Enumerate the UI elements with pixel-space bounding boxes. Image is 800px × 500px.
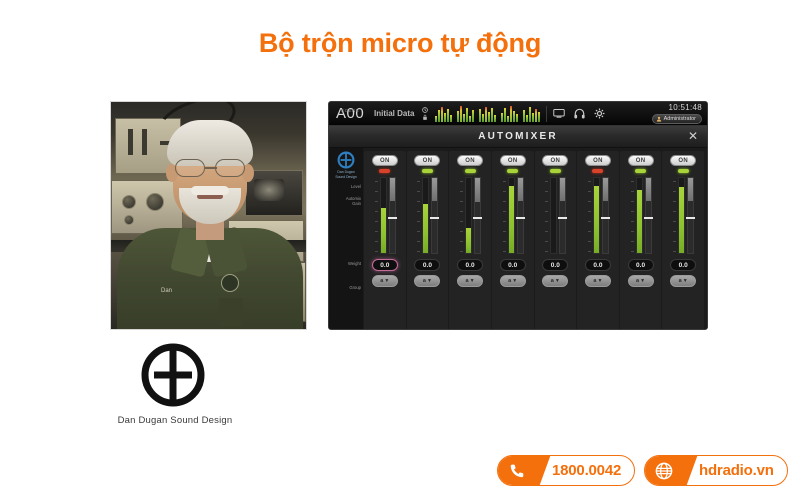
channel-led-indicator — [507, 169, 518, 173]
gear-icon[interactable] — [594, 108, 605, 119]
dugan-mark-icon — [337, 151, 355, 169]
gain-marker — [686, 217, 695, 219]
channel-led-indicator — [465, 169, 476, 173]
photo-shirt-badge — [221, 274, 239, 292]
group-label: a — [551, 278, 554, 284]
channel-on-button[interactable]: ON — [628, 155, 654, 166]
page-root: Bộ trộn micro tự động — [0, 0, 800, 500]
gain-marker — [601, 217, 610, 219]
chevron-down-icon: ▼ — [597, 278, 602, 284]
meter-scale — [502, 177, 506, 254]
label-group: Group — [349, 285, 361, 290]
level-meter — [465, 177, 472, 254]
group-label: a — [380, 278, 383, 284]
gain-marker — [558, 217, 567, 219]
lock-icon — [422, 114, 428, 121]
meter-scale — [544, 177, 548, 254]
weight-value[interactable]: 0.0 — [585, 259, 611, 271]
level-meter — [636, 177, 643, 254]
chevron-down-icon: ▼ — [512, 278, 517, 284]
channel-meters — [625, 177, 657, 254]
gain-marker — [516, 217, 525, 219]
channel-meters — [411, 177, 443, 254]
automixer-titlebar: AUTOMIXER ✕ — [329, 126, 707, 148]
header-right: 10:51:48 Administrator — [652, 104, 702, 124]
phone-icon — [498, 456, 536, 485]
channel-strip: ON0.0a▼ — [535, 151, 577, 330]
group-select-button[interactable]: a▼ — [414, 275, 440, 287]
channel-meters — [497, 177, 529, 254]
close-icon[interactable]: ✕ — [686, 129, 700, 143]
channel-on-button[interactable]: ON — [670, 155, 696, 166]
dugan-mark-caption: Dan Dugan Sound Design — [330, 170, 362, 179]
group-select-button[interactable]: a▼ — [372, 275, 398, 287]
weight-value[interactable]: 0.0 — [372, 259, 398, 271]
channel-meters — [582, 177, 614, 254]
meter-scale — [459, 177, 463, 254]
console-header: SCENE A00 Initial Data — [329, 102, 707, 126]
group-label: a — [679, 278, 682, 284]
level-meter — [550, 177, 557, 254]
globe-icon — [645, 456, 683, 485]
headphones-icon[interactable] — [574, 108, 585, 119]
channel-led-indicator — [678, 169, 689, 173]
channel-strip: ON0.0a▼ — [449, 151, 491, 330]
gain-marker — [644, 217, 653, 219]
level-meter — [678, 177, 685, 254]
automix-gain-meter — [687, 177, 694, 254]
page-title: Bộ trộn micro tự động — [0, 28, 800, 59]
level-meter — [380, 177, 387, 254]
automix-gain-meter — [389, 177, 396, 254]
channel-meters — [667, 177, 699, 254]
photo-shirt-pocket — [219, 298, 243, 326]
chevron-down-icon: ▼ — [470, 278, 475, 284]
chevron-down-icon: ▼ — [427, 278, 432, 284]
weight-value[interactable]: 0.0 — [500, 259, 526, 271]
gain-marker — [430, 217, 439, 219]
channel-on-button[interactable]: ON — [500, 155, 526, 166]
chevron-down-icon: ▼ — [640, 278, 645, 284]
channel-meters — [539, 177, 571, 254]
scene-lock-icons — [422, 107, 428, 121]
weight-value[interactable]: 0.0 — [542, 259, 568, 271]
chevron-down-icon: ▼ — [683, 278, 688, 284]
meter-scale — [630, 177, 634, 254]
channel-strip: ON0.0a▼ — [364, 151, 406, 330]
group-label: a — [423, 278, 426, 284]
automixer-title: AUTOMIXER — [478, 131, 558, 142]
channel-strip: ON0.0a▼ — [577, 151, 619, 330]
meter-bridge — [435, 105, 540, 122]
channel-on-button[interactable]: ON — [414, 155, 440, 166]
group-select-button[interactable]: a▼ — [585, 275, 611, 287]
weight-value[interactable]: 0.0 — [414, 259, 440, 271]
level-meter — [593, 177, 600, 254]
photo-moustache — [191, 186, 229, 195]
channel-strips: ON0.0a▼ON0.0a▼ON0.0a▼ON0.0a▼ON0.0a▼ON0.0… — [363, 148, 707, 330]
phone-badge[interactable]: 1800.0042 — [497, 455, 635, 486]
channel-meters — [454, 177, 486, 254]
channel-meters — [369, 177, 401, 254]
phone-number: 1800.0042 — [536, 462, 634, 479]
automixer-body: Dan Dugan Sound Design Level Automix Gai… — [329, 148, 707, 330]
label-level: Level — [351, 184, 361, 189]
channel-led-indicator — [379, 169, 390, 173]
group-label: a — [636, 278, 639, 284]
group-label: a — [466, 278, 469, 284]
weight-value[interactable]: 0.0 — [670, 259, 696, 271]
meter-scale — [587, 177, 591, 254]
level-meter — [422, 177, 429, 254]
weight-value[interactable]: 0.0 — [457, 259, 483, 271]
user-icon — [656, 116, 662, 122]
website-url: hdradio.vn — [683, 462, 787, 479]
photo-oscilloscope — [245, 170, 303, 216]
group-select-button[interactable]: a▼ — [457, 275, 483, 287]
photo-name-tag: Dan — [161, 288, 172, 294]
monitor-icon[interactable] — [553, 109, 565, 118]
channel-strip: ON0.0a▼ — [492, 151, 534, 330]
chevron-down-icon: ▼ — [384, 278, 389, 284]
channel-strip: ON0.0a▼ — [620, 151, 662, 330]
channel-strip: ON0.0a▼ — [407, 151, 449, 330]
channel-led-indicator — [422, 169, 433, 173]
meter-scale — [416, 177, 420, 254]
group-label: a — [593, 278, 596, 284]
group-select-button[interactable]: a▼ — [542, 275, 568, 287]
automix-gain-meter — [474, 177, 481, 254]
meter-scale — [672, 177, 676, 254]
label-weight: Weight — [348, 261, 361, 266]
clock: 10:51:48 — [668, 104, 702, 112]
channel-on-button[interactable]: ON — [542, 155, 568, 166]
scene-label: SCENE — [341, 108, 360, 113]
dan-dugan-logo-caption: Dan Dugan Sound Design — [100, 415, 250, 426]
channel-led-indicator — [592, 169, 603, 173]
meter-scale — [374, 177, 378, 254]
automix-gain-meter — [431, 177, 438, 254]
header-divider — [546, 106, 547, 122]
website-badge[interactable]: hdradio.vn — [644, 455, 788, 486]
gain-marker — [473, 217, 482, 219]
dan-dugan-photo: Dan — [110, 101, 307, 330]
channel-led-indicator — [635, 169, 646, 173]
group-select-button[interactable]: a▼ — [500, 275, 526, 287]
channel-on-button[interactable]: ON — [457, 155, 483, 166]
channel-led-indicator — [550, 169, 561, 173]
channel-on-button[interactable]: ON — [585, 155, 611, 166]
user-badge[interactable]: Administrator — [652, 114, 702, 124]
automixer-side-labels: Dan Dugan Sound Design Level Automix Gai… — [329, 148, 363, 330]
group-select-button[interactable]: a▼ — [670, 275, 696, 287]
automix-gain-meter — [517, 177, 524, 254]
label-automix-gain: Automix Gain — [346, 196, 361, 207]
level-meter — [508, 177, 515, 254]
dan-dugan-logo-icon — [140, 342, 206, 408]
photo-glasses — [171, 159, 251, 177]
automix-gain-meter — [602, 177, 609, 254]
group-label: a — [508, 278, 511, 284]
automixer-console: SCENE A00 Initial Data — [328, 101, 708, 330]
automix-gain-meter — [645, 177, 652, 254]
automix-gain-meter — [559, 177, 566, 254]
user-name: Administrator — [664, 116, 696, 122]
channel-on-button[interactable]: ON — [372, 155, 398, 166]
scene-name[interactable]: Initial Data — [374, 109, 414, 118]
gain-marker — [388, 217, 397, 219]
chevron-down-icon: ▼ — [555, 278, 560, 284]
channel-strip: ON0.0a▼ — [662, 151, 704, 330]
weight-value[interactable]: 0.0 — [628, 259, 654, 271]
group-select-button[interactable]: a▼ — [628, 275, 654, 287]
